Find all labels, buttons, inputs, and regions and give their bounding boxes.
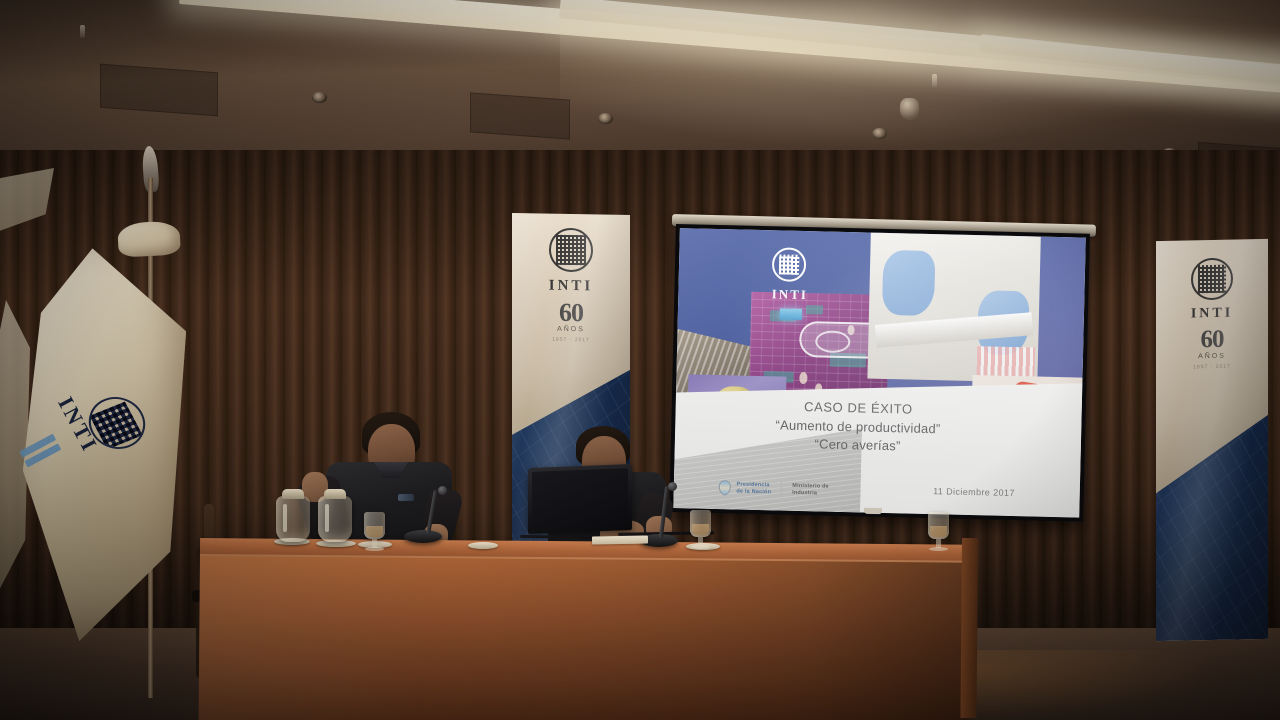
ceiling-dome-light-icon [900, 98, 919, 120]
water-pitcher [318, 496, 352, 542]
papers [592, 536, 648, 545]
laptop [528, 464, 632, 534]
microphone-head-icon [668, 482, 677, 491]
ceiling-light-strip [559, 0, 1280, 101]
banner-anniversary-number: 60 [1201, 326, 1224, 354]
ceiling-vent [470, 92, 570, 139]
ceiling-spotlight-icon [872, 128, 887, 139]
ministry-label: Ministerio de Industria [792, 482, 829, 497]
drinking-glass [690, 510, 711, 537]
ceiling-vent [100, 64, 218, 117]
conference-room-photo: INTI INTI 60 AÑOS 1957 - 2017 INTI 60 AÑ… [0, 0, 1280, 720]
ceiling-spotlight-icon [312, 92, 327, 103]
presentation-slide: INTI CASO DE ÉXITO “Aumento de productiv… [673, 228, 1085, 517]
sprinkler-icon [80, 25, 85, 38]
slide-photo-laboratory [867, 233, 1041, 383]
screen-bottom-weight [864, 508, 882, 514]
microphone-head-icon [438, 486, 447, 495]
slide-footer-logos: Presidencia de la Nación Ministerio de I… [718, 480, 829, 498]
banner-anniversary-word: AÑOS [1198, 353, 1226, 361]
banner-anniversary-number: 60 [559, 298, 583, 328]
banner-anniversary-years: 1957 - 2017 [1193, 364, 1231, 371]
government-label: Presidencia de la Nación [736, 481, 771, 496]
presenters-table-front [199, 556, 970, 720]
slide-inti-label: INTI [772, 286, 809, 303]
water-pitcher [276, 496, 310, 542]
banner-inti-label: INTI [549, 278, 594, 296]
projection-screen: INTI CASO DE ÉXITO “Aumento de productiv… [669, 224, 1090, 522]
slide-title-block: CASO DE ÉXITO “Aumento de productividad”… [732, 397, 985, 455]
argentina-shield-icon [718, 480, 730, 495]
drinking-glass [928, 512, 949, 539]
slide-accent-bar [779, 309, 801, 321]
footer-divider [781, 482, 782, 497]
flag-knot [117, 220, 181, 257]
banner-anniversary-word: AÑOS [557, 326, 585, 333]
banner-anniversary-years: 1957 - 2017 [552, 337, 590, 344]
slide-subtitle-1: “Aumento de productividad” [732, 416, 984, 437]
shirt-logo [398, 494, 414, 501]
ceiling-spotlight-icon [598, 113, 613, 124]
banner-inti-label: INTI [1191, 306, 1233, 323]
drinking-glass [364, 512, 385, 539]
banner-blue-panel [1156, 415, 1268, 641]
table-right-side [960, 538, 978, 718]
slide-date: 11 Diciembre 2017 [933, 486, 1015, 498]
inti-logo-icon [1191, 258, 1233, 301]
inti-banner-right: INTI 60 AÑOS 1957 - 2017 [1156, 239, 1268, 641]
coaster [468, 542, 498, 549]
microphone-base [404, 530, 442, 543]
inti-logo-icon [549, 228, 593, 273]
sprinkler-icon [932, 74, 937, 87]
